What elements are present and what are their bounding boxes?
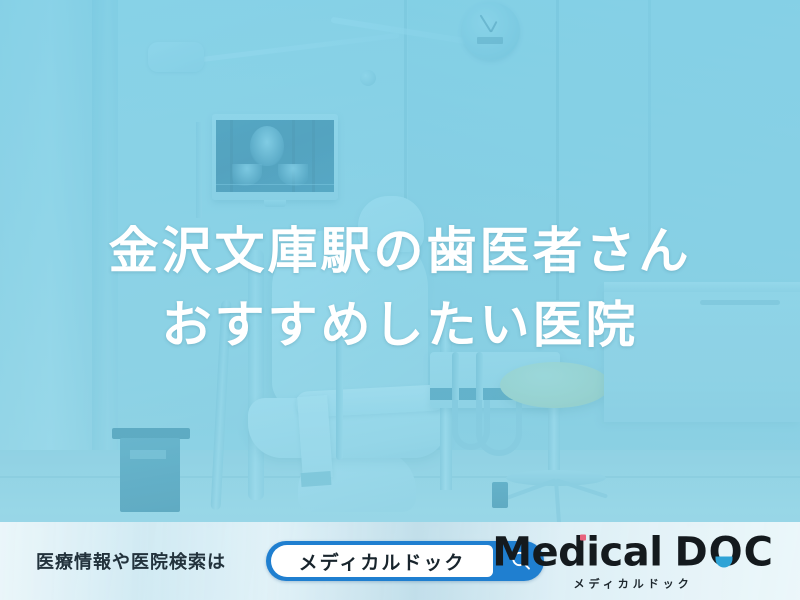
hero-banner: 金沢文庫駅の歯医者さん おすすめしたい医院 医療情報や医院検索は メディカルドッ… xyxy=(0,0,800,600)
search-bar-lead-text: 医療情報や医院検索は xyxy=(36,548,226,574)
brand-logo-medical: Medical xyxy=(492,530,662,576)
headline-line-1: 金沢文庫駅の歯医者さん xyxy=(0,214,800,288)
brand-logo-doc: DOC xyxy=(674,533,774,573)
search-input-value: メディカルドック xyxy=(299,548,466,575)
logo-i-dot-accent xyxy=(580,535,586,541)
brand-logo[interactable]: MedicalDOC メディカルドック xyxy=(492,533,774,590)
brand-logo-wordmark: MedicalDOC xyxy=(492,533,774,573)
brand-logo-subtitle: メディカルドック xyxy=(492,579,774,590)
bottom-search-bar: 医療情報や医院検索は メディカルドック MedicalDOC メディカルドック xyxy=(0,522,800,600)
page-title: 金沢文庫駅の歯医者さん おすすめしたい医院 xyxy=(0,214,800,362)
search-input[interactable]: メディカルドック xyxy=(271,545,493,577)
headline-line-2: おすすめしたい医院 xyxy=(0,288,800,362)
